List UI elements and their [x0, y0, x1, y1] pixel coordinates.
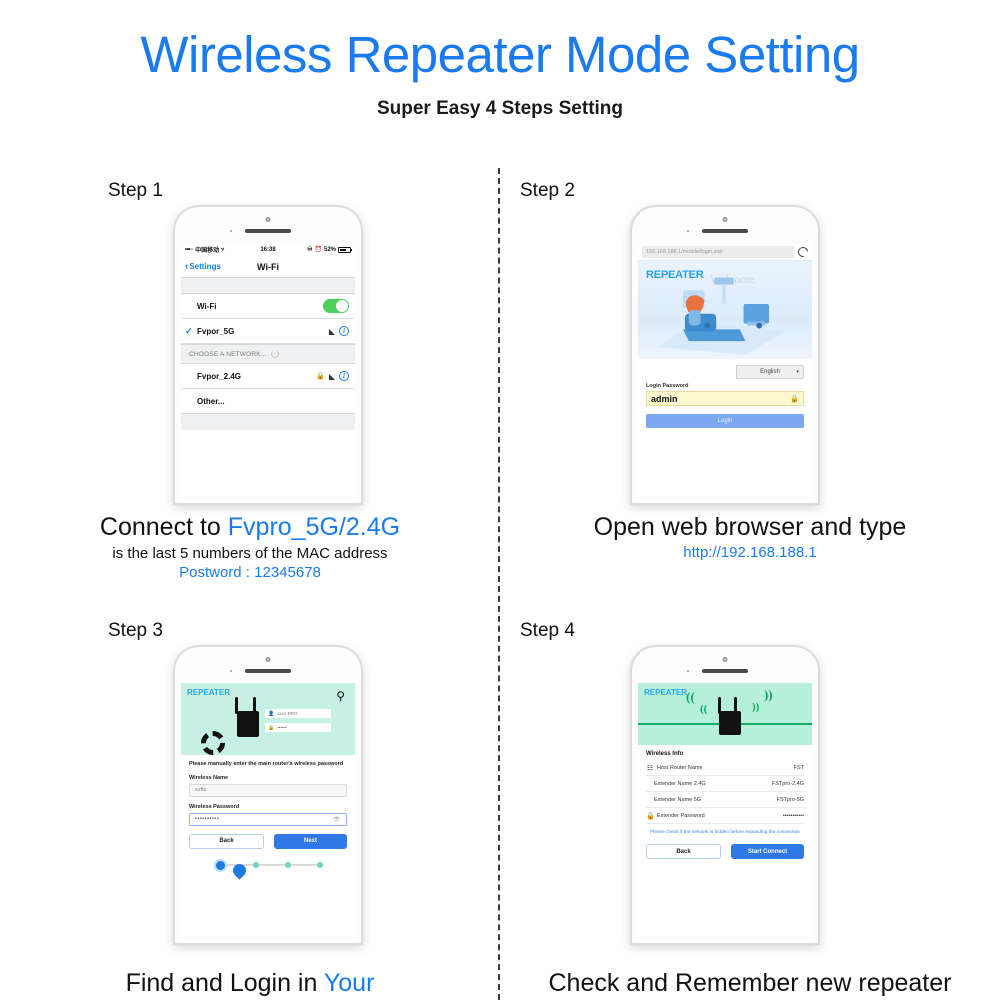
phone-top-bezel [175, 647, 361, 683]
step4-button-row: Back Start Connect [646, 844, 804, 859]
login-password-input[interactable]: admin 🔒 [646, 391, 804, 406]
back-button[interactable]: Back [646, 844, 721, 859]
wireless-info-body: Wireless Info ☷ Host Router Name FST Ext… [638, 745, 812, 865]
front-camera-icon [266, 217, 271, 222]
step-4-label: Step 4 [520, 620, 575, 642]
chevron-left-icon: ‹ [185, 262, 188, 272]
list-top-spacer [181, 278, 355, 294]
username-value: xxxx-PRO [277, 711, 297, 716]
info-value: ••••••••••• [783, 813, 804, 819]
router-login-form: Please manually enter the main router's … [181, 755, 355, 878]
caption-text-pre: Connect to [100, 513, 228, 541]
volume-up-button[interactable] [630, 742, 632, 764]
wifi-signal-icon: ◣ [329, 372, 335, 381]
step-1-cell: Step 1 •••◦◦ 中国移动 ▿ [0, 160, 500, 600]
step-2-label: Step 2 [520, 180, 575, 202]
network-24g-right: 🔒 ◣ i [316, 371, 349, 381]
login-hero-banner: REPEATER Welcome [638, 261, 812, 359]
progress-dot-1[interactable] [214, 859, 227, 872]
proximity-sensor-icon [687, 230, 689, 232]
other-network-row[interactable]: Other... [181, 389, 355, 414]
status-time: 16:38 [260, 247, 275, 253]
proximity-sensor-icon [230, 670, 232, 672]
earpiece-speaker [245, 229, 291, 233]
power-button[interactable] [361, 735, 363, 761]
step-1-label: Step 1 [108, 180, 163, 202]
login-form: English ▾ Login Password admin 🔒 Login [638, 359, 812, 428]
ios-nav-bar: ‹ Settings Wi-Fi [181, 256, 355, 278]
lock-icon: 🔒 [316, 372, 325, 380]
step-2-caption-url: http://192.168.188.1 [500, 544, 1000, 561]
next-button[interactable]: Next [274, 834, 347, 849]
power-button[interactable] [818, 735, 820, 761]
wifi-row-right [323, 299, 349, 313]
front-camera-icon [723, 657, 728, 662]
router-icon [237, 711, 259, 737]
lock-icon: 🔒 [790, 395, 799, 403]
lock-icon: 🔒 [646, 812, 654, 820]
info-key: Extender Name 5G [646, 797, 701, 803]
other-network-label: Other... [197, 397, 225, 406]
repeater-hero-banner: REPEATER (( (( )) )) [638, 683, 812, 745]
info-row-extender-5g: Extender Name 5G FSTpro-5G [646, 792, 804, 808]
manual-entry-note: Please manually enter the main router's … [189, 761, 347, 769]
browser-login-screen: 192.168.188.1/mobile/login.asp REPEATER … [638, 243, 812, 503]
login-password-value: admin [651, 394, 678, 404]
info-icon[interactable]: i [339, 326, 349, 336]
step-3-cell: Step 3 REPEATER ⚲ [0, 600, 500, 1000]
nav-title: Wi-Fi [257, 262, 279, 272]
caption-text-pre: Check and Remember new repeater [549, 969, 952, 997]
step-4-caption: Check and Remember new repeater account … [500, 968, 1000, 1000]
mute-switch[interactable] [173, 277, 175, 289]
carrier-area: •••◦◦ 中国移动 ▿ [185, 245, 224, 254]
signal-wave-icon: (( [686, 689, 695, 705]
wireless-password-input[interactable]: •••••••••• 👁 [189, 813, 347, 826]
lock-icon: 🔒 [268, 725, 274, 731]
login-password-label: Login Password [646, 383, 804, 389]
infographic-page: Wireless Repeater Mode Setting Super Eas… [0, 0, 1000, 1000]
info-value: FSTpro-2.4G [772, 781, 804, 787]
language-select[interactable]: English ▾ [736, 365, 804, 379]
step3-button-row: Back Next [189, 834, 347, 849]
info-row-extender-24g: Extender Name 2.4G FSTpro-2.4G [646, 776, 804, 792]
wifi-row-label: Wi-Fi [197, 302, 216, 311]
phone-top-bezel [632, 647, 818, 683]
hero-illustration [638, 261, 812, 357]
proximity-sensor-icon [230, 230, 232, 232]
wireless-info-title: Wireless Info [646, 751, 804, 757]
carrier-name: 中国移动 [195, 245, 219, 254]
language-value: English [760, 369, 780, 375]
progress-line [259, 864, 285, 866]
back-to-settings-button[interactable]: ‹ Settings [181, 262, 221, 272]
step-progress-dots [189, 859, 347, 872]
step-4-cell: Step 4 REPEATER (( [500, 600, 1000, 1000]
step-3-caption-main: Find and Login in Your Router account [0, 968, 500, 1000]
step-2-caption-main: Open web browser and type [500, 512, 1000, 542]
proximity-sensor-icon [687, 670, 689, 672]
phone-mockup-2: 192.168.188.1/mobile/login.asp REPEATER … [630, 205, 820, 505]
signal-wave-icon: )) [752, 701, 759, 713]
info-key: Extender Password [657, 813, 705, 819]
list-bottom-spacer [181, 414, 355, 430]
battery-percent: 52% [324, 247, 336, 253]
choose-network-header: CHOOSE A NETWORK... [181, 344, 355, 364]
earpiece-speaker [702, 669, 748, 673]
key-icon: ⚲ [336, 689, 345, 703]
wireless-info-screen: REPEATER (( (( )) )) Wireless I [638, 683, 812, 943]
signal-wave-icon: (( [700, 703, 707, 715]
status-right: ♾ ⏰ 52% [307, 246, 351, 253]
connected-network-row[interactable]: ✓ Fvpor_5G ◣ i [181, 319, 355, 344]
steps-grid: Step 1 •••◦◦ 中国移动 ▿ [0, 160, 1000, 1000]
wifi-toggle[interactable] [323, 299, 349, 313]
progress-dot-4[interactable] [317, 862, 323, 868]
phone-mockup-4: REPEATER (( (( )) )) Wireless I [630, 645, 820, 945]
wifi-icon: ▿ [221, 246, 224, 253]
wireless-password-label: Wireless Password [189, 804, 347, 810]
step-1-caption-password: Postword : 12345678 [0, 564, 500, 581]
step-1-caption-main: Connect to Fvpro_5G/2.4G [0, 512, 500, 542]
earpiece-speaker [245, 669, 291, 673]
info-row-host-router: ☷ Host Router Name FST [646, 760, 804, 776]
connected-network-label: Fvpor_5G [197, 327, 234, 336]
rotation-lock-icon: ♾ [307, 246, 312, 253]
repeater-brand-logo: REPEATER [187, 688, 230, 697]
phone-top-bezel [632, 207, 818, 243]
wifi-settings-screen: •••◦◦ 中国移动 ▿ 16:38 ♾ ⏰ 52% [181, 243, 355, 503]
gear-icon [201, 731, 225, 755]
volume-down-button[interactable] [173, 772, 175, 794]
password-field[interactable]: 🔒 •••••• [265, 723, 331, 732]
browser-url-bar: 192.168.188.1/mobile/login.asp [638, 243, 812, 261]
ios-status-bar: •••◦◦ 中国移动 ▿ 16:38 ♾ ⏰ 52% [181, 243, 355, 256]
alarm-icon: ⏰ [315, 246, 322, 253]
step-2-cell: Step 2 192.168.188.1/mobile/login.asp [500, 160, 1000, 600]
phone-top-bezel [175, 207, 361, 243]
step-3-caption: Find and Login in Your Router account [0, 968, 500, 1000]
power-button[interactable] [361, 295, 363, 321]
username-field[interactable]: 👤 xxxx-PRO [265, 709, 331, 718]
info-icon[interactable]: i [339, 371, 349, 381]
connected-network-right: ◣ i [329, 326, 349, 336]
url-input[interactable]: 192.168.188.1/mobile/login.asp [642, 246, 794, 258]
signal-dots-icon: •••◦◦ [185, 247, 193, 253]
front-camera-icon [723, 217, 728, 222]
wifi-signal-icon: ◣ [329, 327, 335, 336]
loading-spinner-icon [271, 350, 279, 358]
step-1-caption-sub: is the last 5 numbers of the MAC address [0, 545, 500, 562]
info-value: FST [794, 765, 804, 771]
page-title: Wireless Repeater Mode Setting [0, 0, 1000, 82]
volume-up-button[interactable] [173, 302, 175, 324]
volume-down-button[interactable] [173, 332, 175, 354]
router-icon [719, 711, 741, 735]
volume-down-button[interactable] [630, 772, 632, 794]
back-label: Settings [189, 262, 221, 271]
start-connect-button[interactable]: Start Connect [731, 844, 804, 859]
network-row-24g[interactable]: Fvpor_2.4G 🔒 ◣ i [181, 364, 355, 389]
person-icon: 👤 [268, 711, 274, 717]
mute-switch[interactable] [630, 277, 632, 289]
step-1-caption: Connect to Fvpro_5G/2.4G is the last 5 n… [0, 512, 500, 581]
choose-network-label: CHOOSE A NETWORK... [189, 351, 267, 358]
signal-wave-icon: )) [764, 687, 773, 703]
login-button[interactable]: Login [646, 414, 804, 428]
back-button[interactable]: Back [189, 834, 264, 849]
checkmark-icon: ✓ [185, 326, 193, 337]
progress-line [291, 864, 317, 866]
info-value: FSTpro-5G [776, 797, 804, 803]
info-key: Host Router Name [657, 765, 703, 771]
step-3-label: Step 3 [108, 620, 163, 642]
volume-up-button[interactable] [173, 742, 175, 764]
chevron-down-icon: ▾ [796, 369, 799, 375]
mute-switch[interactable] [630, 717, 632, 729]
caption-text-highlight: Fvpro_5G/2.4G [228, 513, 400, 541]
info-key: Extender Name 2.4G [646, 781, 706, 787]
eye-icon[interactable]: 👁 [333, 816, 341, 823]
password-value: •••••• [277, 725, 286, 730]
caption-text-highlight: Your [324, 969, 375, 997]
hidden-network-warning: Please check if the network is hidden be… [648, 829, 802, 836]
reload-icon[interactable] [796, 245, 810, 259]
router-icon: ☷ [646, 764, 654, 772]
phone-mockup-1: •••◦◦ 中国移动 ▿ 16:38 ♾ ⏰ 52% [173, 205, 363, 505]
wireless-name-label: Wireless Name [189, 775, 347, 781]
earpiece-speaker [702, 229, 748, 233]
power-button[interactable] [818, 295, 820, 321]
front-camera-icon [266, 657, 271, 662]
volume-down-button[interactable] [630, 332, 632, 354]
wireless-password-value: •••••••••• [195, 816, 219, 822]
battery-icon [338, 247, 351, 253]
network-24g-label: Fvpor_2.4G [197, 372, 241, 381]
step-2-caption: Open web browser and type http://192.168… [500, 512, 1000, 561]
caption-text-pre: Find and Login in [126, 969, 324, 997]
wireless-name-input[interactable]: szfts [189, 784, 347, 797]
info-row-extender-password: 🔒 Extender Password ••••••••••• [646, 808, 804, 824]
mute-switch[interactable] [173, 717, 175, 729]
page-subtitle: Super Easy 4 Steps Setting [0, 98, 1000, 120]
wireless-name-value: szfts [195, 787, 206, 793]
wifi-toggle-row[interactable]: Wi-Fi [181, 294, 355, 319]
phone-mockup-3: REPEATER ⚲ 👤 xxxx-PRO 🔒 •••••• [173, 645, 363, 945]
repeater-hero-banner: REPEATER ⚲ 👤 xxxx-PRO 🔒 •••••• [181, 683, 355, 755]
router-login-screen: REPEATER ⚲ 👤 xxxx-PRO 🔒 •••••• [181, 683, 355, 943]
step-4-caption-main: Check and Remember new repeater account … [500, 968, 1000, 1000]
volume-up-button[interactable] [630, 302, 632, 324]
